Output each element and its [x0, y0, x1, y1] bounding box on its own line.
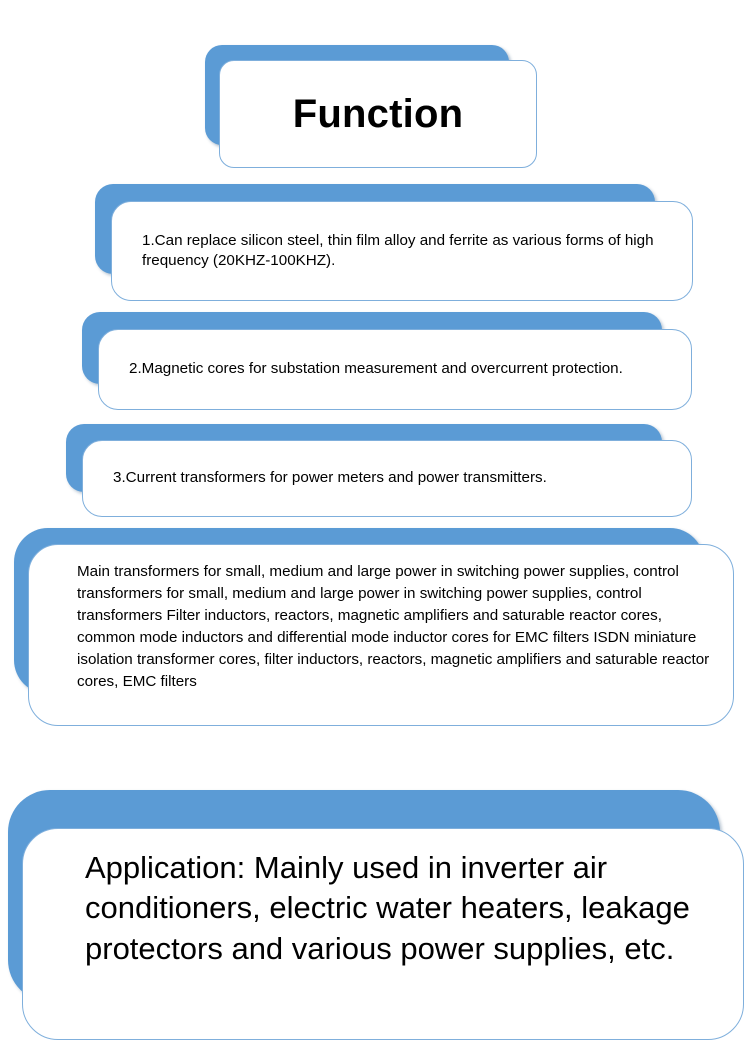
application-callout: Application: Mainly used in inverter air…: [8, 790, 744, 1040]
application-text: Application: Mainly used in inverter air…: [23, 829, 743, 969]
feature-1-text: 1.Can replace silicon steel, thin film a…: [112, 231, 692, 271]
feature-2-text: 2.Magnetic cores for substation measurem…: [99, 359, 691, 379]
description-card: Main transformers for small, medium and …: [28, 544, 734, 726]
feature-callout-1: 1.Can replace silicon steel, thin film a…: [95, 184, 695, 302]
feature-callout-3: 3.Current transformers for power meters …: [66, 424, 694, 516]
feature-1-card: 1.Can replace silicon steel, thin film a…: [111, 201, 693, 301]
title-card: Function: [219, 60, 537, 168]
feature-2-card: 2.Magnetic cores for substation measurem…: [98, 329, 692, 410]
description-callout: Main transformers for small, medium and …: [14, 528, 736, 728]
application-card: Application: Mainly used in inverter air…: [22, 828, 744, 1040]
feature-3-card: 3.Current transformers for power meters …: [82, 440, 692, 517]
slide-canvas: { "theme": { "accent_blue": "#5B9BD5", "…: [0, 0, 750, 1044]
function-title-callout: Function: [205, 45, 545, 170]
feature-3-text: 3.Current transformers for power meters …: [83, 468, 691, 488]
page-title: Function: [220, 92, 536, 136]
feature-callout-2: 2.Magnetic cores for substation measurem…: [82, 312, 694, 410]
description-text: Main transformers for small, medium and …: [29, 545, 733, 693]
